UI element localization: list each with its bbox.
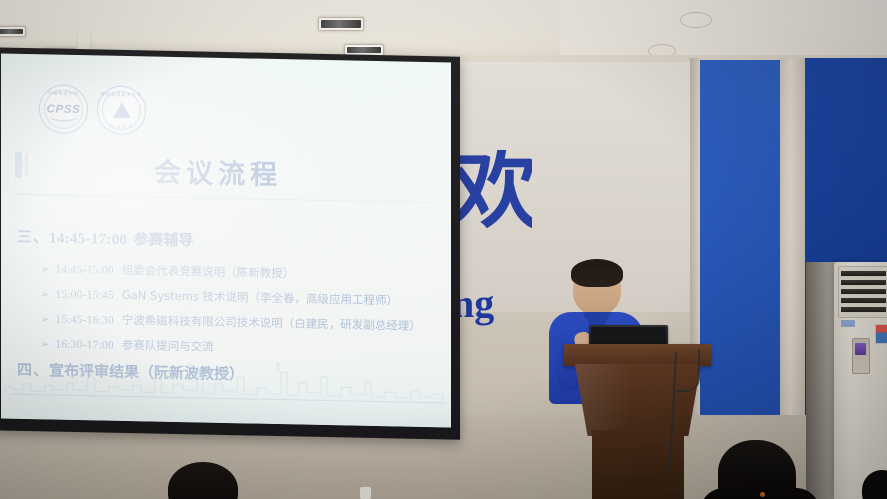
cpss-logo-top-text: 中国电源学会 — [40, 90, 87, 97]
slide-logo-row: 中国电源学会 CPSS 南京航空航天大学 N U A A — [39, 84, 146, 135]
wall-shadow-strip — [806, 262, 836, 499]
nuaa-logo-top-text: 南京航空航天大学 — [98, 91, 145, 98]
nuaa-logo-bottom-text: N U A A — [98, 123, 145, 129]
nuaa-logo-emblem — [113, 101, 131, 117]
screen-bottom-gradient — [1, 358, 451, 427]
item-text: 宁波希磁科技有限公司技术说明（白建民，研发副总经理） — [122, 313, 421, 333]
vent-louvre — [841, 289, 886, 294]
ceiling-fixture-circle-1 — [680, 12, 712, 28]
item-time: 14:45-15:00 — [55, 264, 113, 277]
air-conditioner-energy-label — [875, 324, 887, 344]
list-item: ➢14:45-15:00组委会代表竞赛说明（陈新教授） — [41, 260, 294, 281]
podium-cable-curve — [676, 350, 700, 392]
cpss-logo-arc — [49, 111, 78, 122]
section-text: 参赛辅导 — [133, 230, 193, 249]
projection-screen: 中国电源学会 CPSS 南京航空航天大学 N U A A 会议流程 — [1, 53, 451, 427]
indicator-light — [760, 492, 765, 497]
item-time: 15:45-16:30 — [55, 314, 113, 327]
bullet-icon: ➢ — [41, 264, 49, 275]
item-text: GaN Systems 技术说明（李全春，高级应用工程师） — [122, 288, 398, 308]
foreground-object — [360, 487, 371, 499]
bullet-icon: ➢ — [41, 314, 49, 325]
list-item: ➢15:00-15:45GaN Systems 技术说明（李全春，高级应用工程师… — [41, 285, 398, 308]
cpss-logo: 中国电源学会 CPSS — [39, 84, 88, 134]
item-text: 组委会代表竞赛说明（陈新教授） — [122, 263, 295, 280]
speaker-hair — [571, 259, 623, 287]
wall-logo-glyph: 欢 — [452, 150, 532, 232]
item-time: 15:00-15:45 — [55, 289, 113, 302]
title-accent-bar-secondary — [25, 154, 28, 176]
vent-louvre — [841, 271, 886, 276]
title-underline — [15, 194, 447, 204]
blue-wall-panel-1 — [700, 60, 780, 418]
presentation-slide: 中国电源学会 CPSS 南京航空航天大学 N U A A 会议流程 — [1, 53, 451, 427]
air-conditioner-display[interactable] — [852, 338, 870, 374]
vent-louvre — [841, 280, 886, 285]
list-item: ➢15:45-16:30宁波希磁科技有限公司技术说明（白建民，研发副总经理） — [41, 310, 421, 334]
conference-room-screenshot: 欢 ng 中国电源学会 CPSS 南京航空航天大学 N U A A — [0, 0, 887, 499]
vent-louvre — [841, 307, 886, 312]
speaker-glasses — [578, 284, 617, 293]
vent-louvre — [841, 298, 886, 303]
downlight-1 — [0, 26, 26, 37]
slide-section-heading: 三、14:45-17:00参赛辅导 — [17, 226, 193, 251]
nuaa-logo: 南京航空航天大学 N U A A — [97, 85, 146, 135]
bullet-icon: ➢ — [41, 289, 49, 300]
section-number: 三、 — [17, 228, 49, 247]
downlight-3 — [318, 17, 364, 31]
slide-title: 会议流程 — [154, 151, 282, 193]
laptop-screen — [591, 327, 666, 344]
air-conditioner-vent — [838, 266, 887, 318]
title-accent-bar — [15, 152, 22, 178]
section-time: 14:45-17:00 — [49, 230, 127, 248]
projection-screen-frame: 中国电源学会 CPSS 南京航空航天大学 N U A A 会议流程 — [0, 47, 460, 439]
air-conditioner-brand-badge — [841, 320, 855, 327]
